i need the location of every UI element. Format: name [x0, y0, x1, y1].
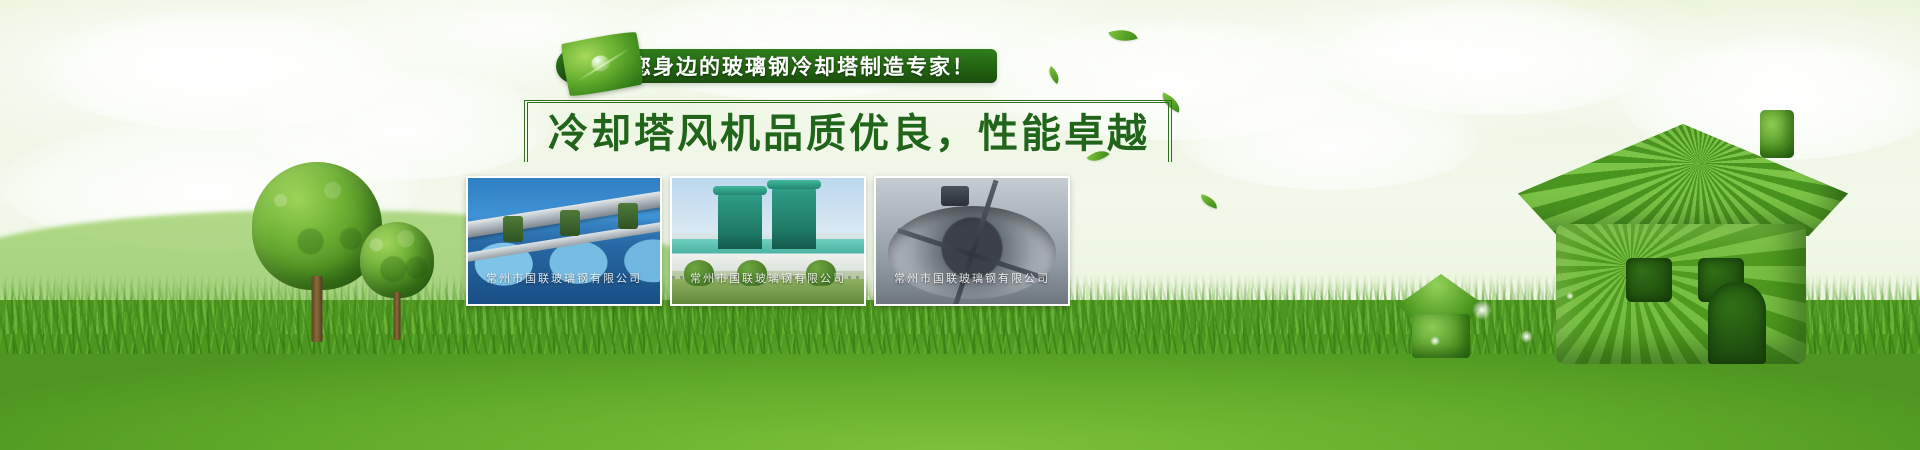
cloud: [1180, 90, 1480, 190]
sparkle: [1520, 330, 1533, 343]
house-body: [1412, 314, 1470, 358]
headline-frame: 冷却塔风机品质优良，性能卓越: [524, 100, 1172, 162]
sparkle: [1566, 292, 1574, 300]
photo-watermark: 常州市国联玻璃钢有限公司: [876, 270, 1068, 286]
grass-house-icon: [1518, 124, 1848, 364]
tagline-text: 您身边的玻璃钢冷却塔制造专家！: [630, 51, 975, 81]
sparkle: [1472, 300, 1492, 320]
tree-icon: [360, 222, 434, 340]
house-chimney: [1760, 110, 1794, 158]
photo-motor-box: [941, 186, 969, 206]
cloud: [1330, 0, 1660, 115]
product-photo-strip: 常州市国联玻璃钢有限公司 常州市国联玻璃钢有限公司 常州市国联玻璃钢有限公司: [466, 176, 1070, 306]
house-door: [1708, 282, 1766, 364]
photo-watermark: 常州市国联玻璃钢有限公司: [672, 270, 864, 286]
grass-house-icon-small: [1398, 272, 1484, 358]
house-roof: [1398, 274, 1484, 318]
product-photo[interactable]: 常州市国联玻璃钢有限公司: [874, 176, 1070, 306]
photo-motor: [560, 210, 580, 236]
photo-motor: [618, 203, 638, 229]
tree-trunk: [312, 276, 323, 342]
photo-cooling-tower: [772, 187, 816, 249]
tree-crown: [360, 222, 434, 298]
photo-watermark: 常州市国联玻璃钢有限公司: [468, 270, 660, 286]
product-photo[interactable]: 常州市国联玻璃钢有限公司: [670, 176, 866, 306]
page-title: 冷却塔风机品质优良，性能卓越: [548, 113, 1150, 156]
tagline-ribbon: 您身边的玻璃钢冷却塔制造专家！: [556, 46, 997, 86]
sparkle: [1430, 336, 1440, 346]
house-roof: [1518, 124, 1848, 236]
house-body: [1556, 224, 1806, 364]
photo-fan-blade: [897, 228, 972, 257]
ribbon-body: 您身边的玻璃钢冷却塔制造专家！: [556, 49, 997, 83]
photo-motor: [503, 216, 523, 242]
tree-trunk: [394, 292, 401, 340]
product-photo[interactable]: 常州市国联玻璃钢有限公司: [466, 176, 662, 306]
hero-banner: 您身边的玻璃钢冷却塔制造专家！ 冷却塔风机品质优良，性能卓越 常州市国联玻璃钢有…: [0, 0, 1920, 450]
cloud: [40, 10, 400, 130]
photo-cooling-tower: [718, 193, 762, 249]
house-window: [1626, 258, 1672, 302]
